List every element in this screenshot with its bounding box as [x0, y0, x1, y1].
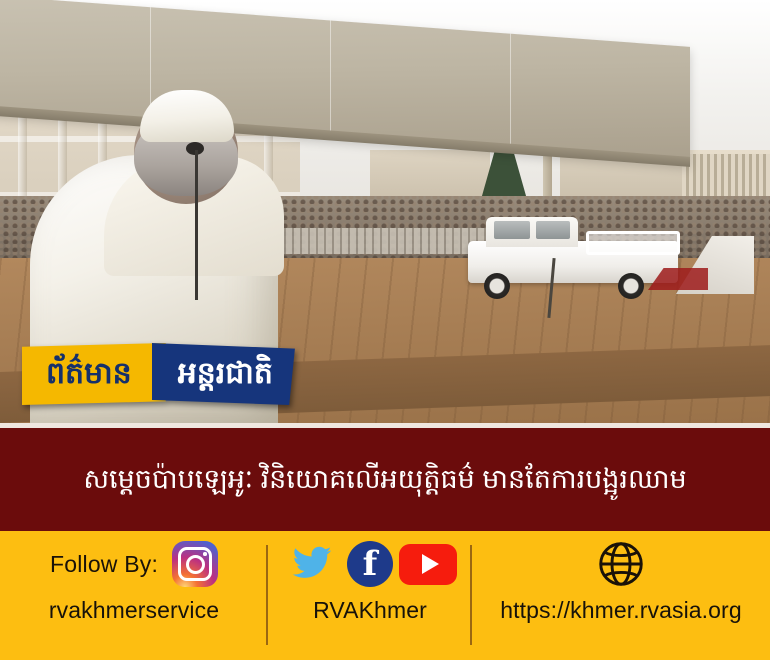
- headline-text: សម្ដេចប៉ាបឡេអូៈ វិនិយោគលើអយុត្តិធម៌ មានត…: [65, 463, 704, 497]
- vatican-building-2: [370, 150, 490, 202]
- zucchetto-icon: [140, 90, 234, 142]
- badge-category-international[interactable]: អន្តរជាតិ: [152, 343, 295, 405]
- twitter-icon[interactable]: [283, 541, 341, 587]
- website-url[interactable]: https://khmer.rvasia.org: [500, 597, 741, 624]
- badge-category-news[interactable]: ព័ត៌មាន: [22, 343, 166, 405]
- instagram-icon[interactable]: [172, 541, 218, 587]
- follow-by-label: Follow By:: [50, 551, 158, 578]
- footer-bar: Follow By: rvakhmerservice: [0, 531, 770, 660]
- microphone-stand: [195, 150, 198, 300]
- category-badges: ព័ត៌មាន អន្តរជាតិ: [22, 343, 295, 405]
- facebook-icon[interactable]: f: [347, 541, 393, 587]
- instagram-handle[interactable]: rvakhmerservice: [49, 597, 219, 624]
- footer-column-instagram: Follow By: rvakhmerservice: [0, 531, 268, 660]
- headline-band: សម្ដេចប៉ាបឡេអូៈ វិនិយោគលើអយុត្តិធម៌ មានត…: [0, 428, 770, 531]
- news-photo: ព័ត៌មាន អន្តរជាតិ: [0, 0, 770, 423]
- news-card: ព័ត៌មាន អន្តរជាតិ សម្ដេចប៉ាបឡេអូៈ វិនិយោ…: [0, 0, 770, 660]
- social-handle[interactable]: RVAKhmer: [313, 597, 427, 624]
- youtube-icon[interactable]: [399, 544, 457, 585]
- footer-column-social: f RVAKhmer: [268, 531, 472, 660]
- globe-icon[interactable]: [594, 537, 648, 591]
- footer-column-website: https://khmer.rvasia.org: [472, 531, 770, 660]
